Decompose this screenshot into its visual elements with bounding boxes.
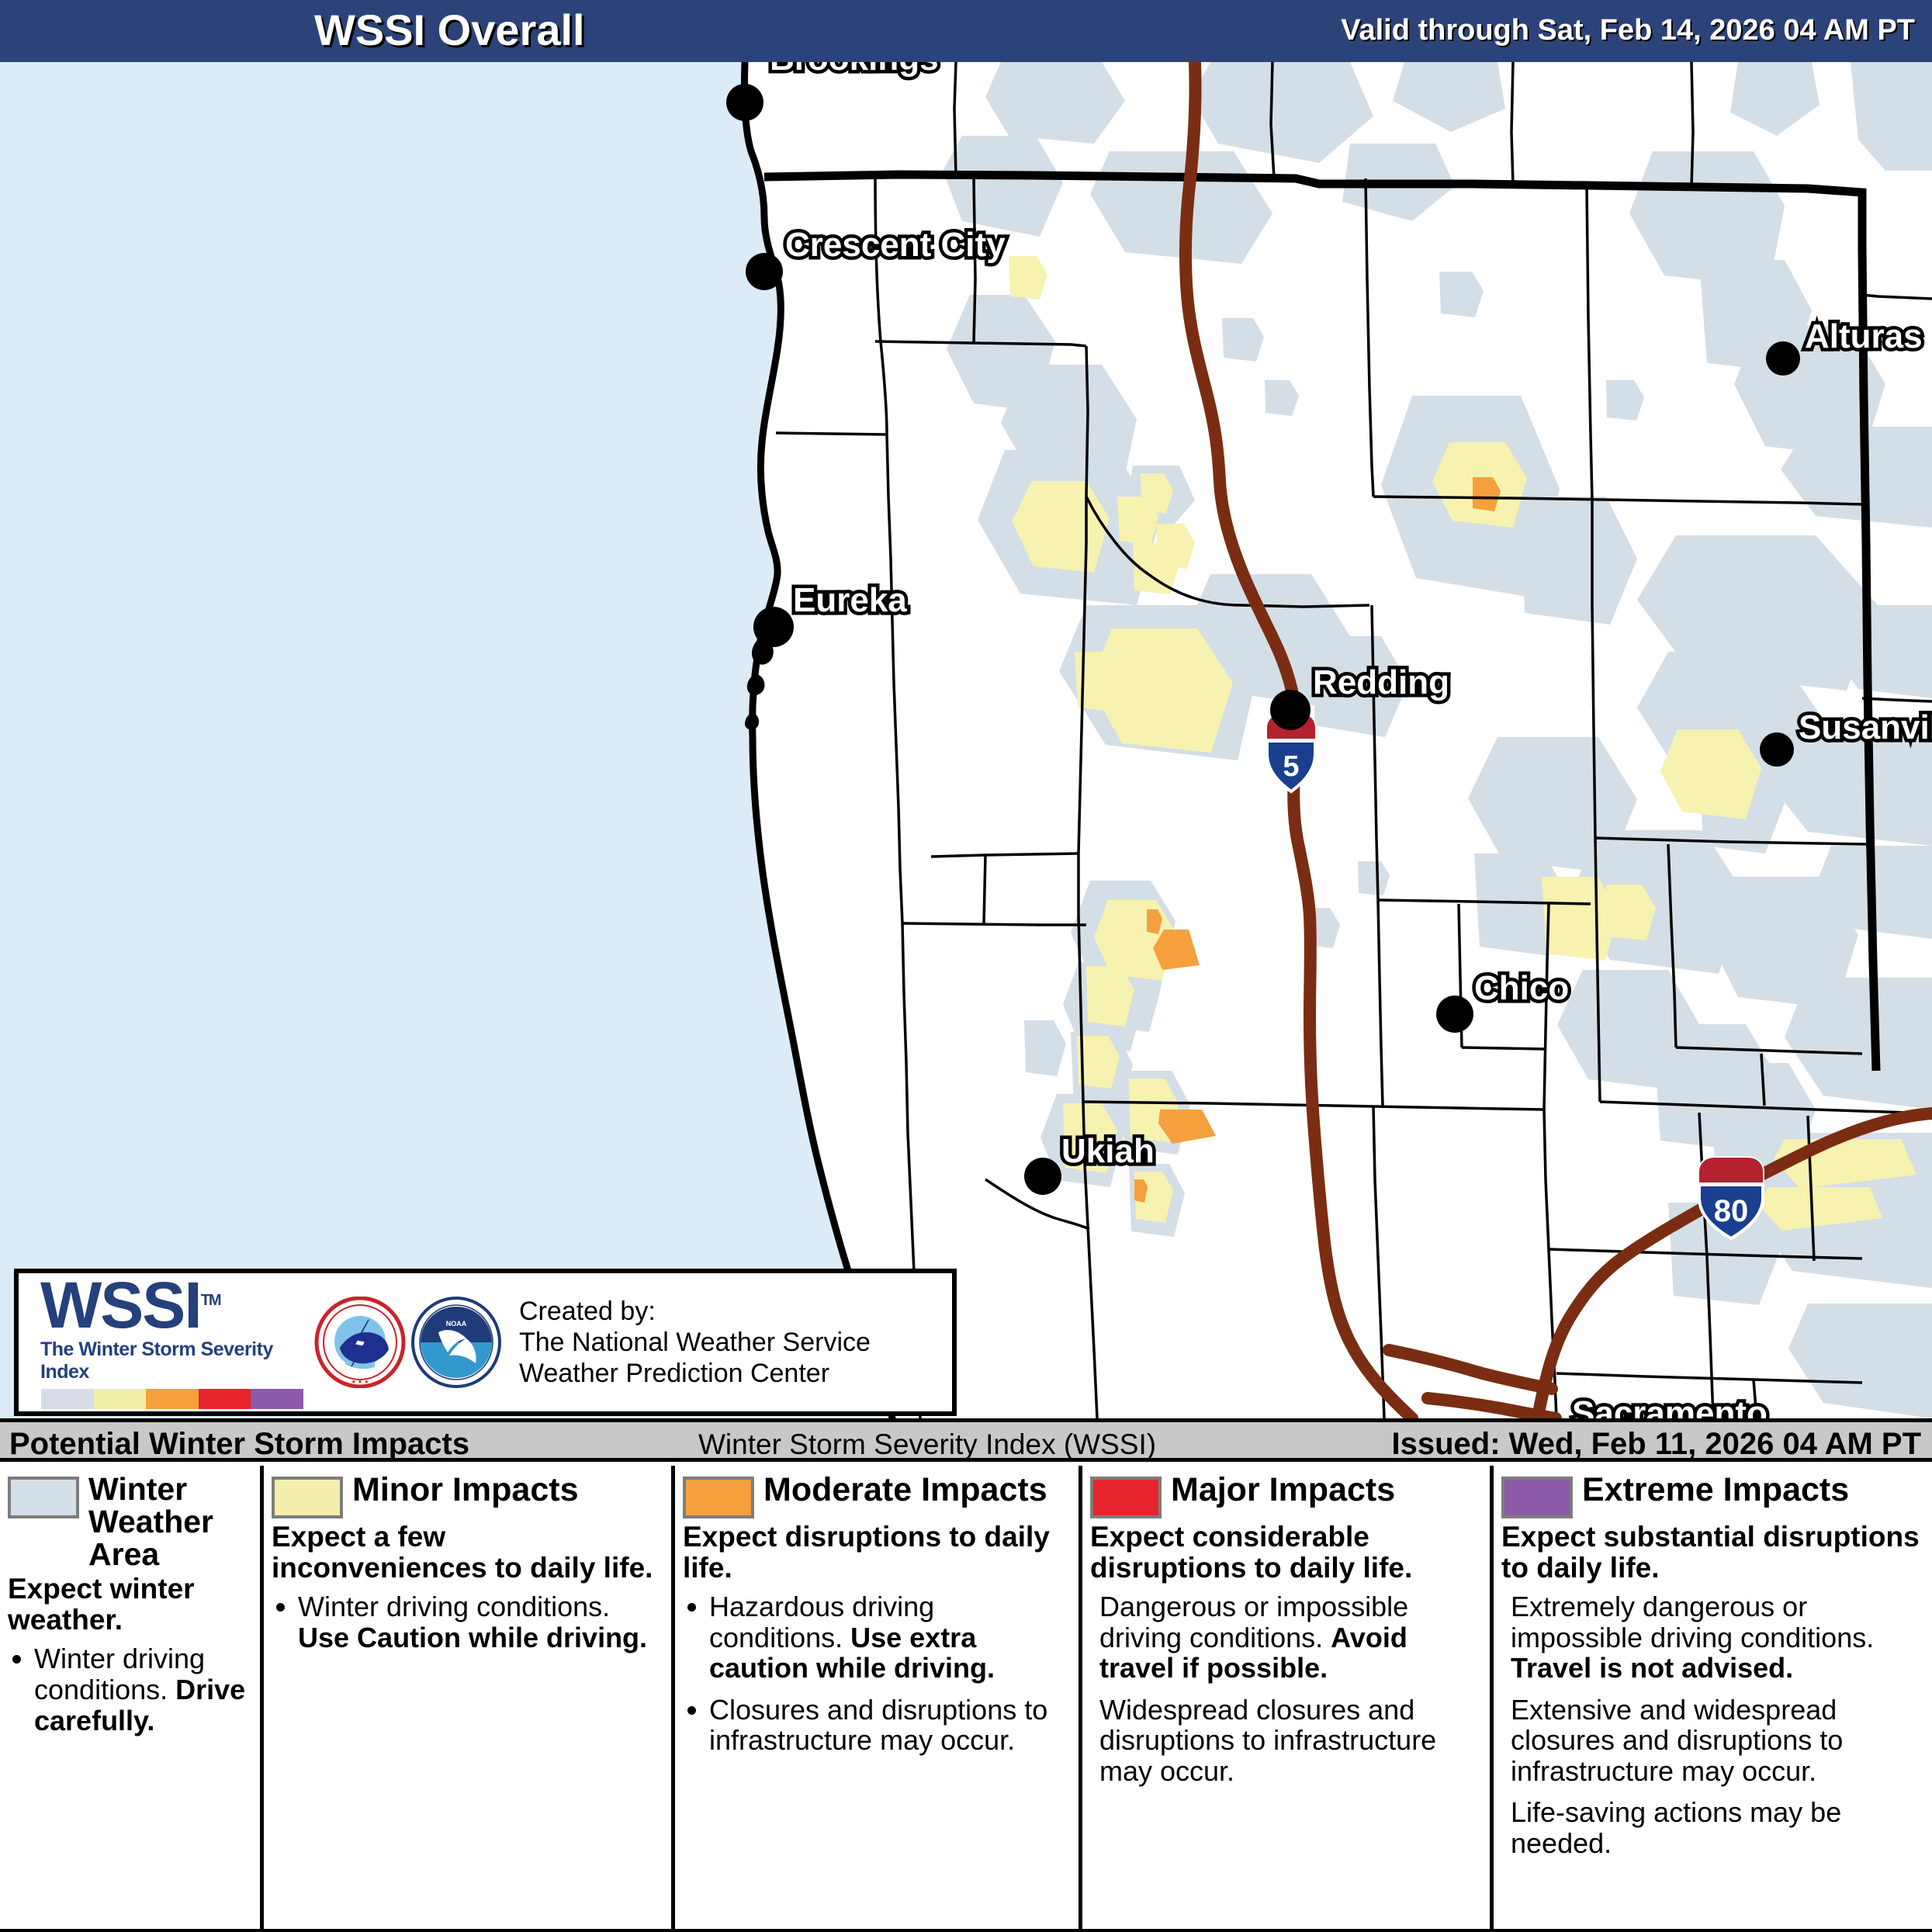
page-title: WSSI Overall [314, 5, 585, 55]
legend-bullets: Extremely dangerous or impossible drivin… [1501, 1591, 1924, 1859]
legend-bullet: Hazardous driving conditions. Use extra … [683, 1591, 1071, 1684]
legend-bullet: Extensive and widespread closures and di… [1501, 1695, 1924, 1787]
subtitle-bar: Potential Winter Storm Impacts Winter St… [0, 1418, 1932, 1462]
legend-text: Widespread closures and disruptions to i… [1099, 1694, 1436, 1787]
created-by-org-line1: The National Weather Service [519, 1327, 871, 1358]
wssi-map-page: WSSI Overall Valid through Sat, Feb 14, … [0, 0, 1932, 1932]
wssi-color-scale [40, 1388, 304, 1410]
city-label-crescent-city: Crescent City [785, 226, 1006, 264]
created-by-org-line2: Weather Prediction Center [519, 1358, 871, 1389]
city-dot-brookings [726, 84, 763, 121]
city-dot-alturas [1766, 341, 1800, 376]
wssi-tagline: The Winter Storm Severity Index [40, 1338, 310, 1383]
legend-title: Winter Weather Area [88, 1473, 252, 1570]
legend-header: Major Impacts [1090, 1473, 1482, 1518]
legend-color-swatch [272, 1477, 343, 1518]
legend-bullet: Widespread closures and disruptions to i… [1090, 1695, 1482, 1787]
scale-swatch-winter-area [41, 1389, 94, 1409]
city-dot-eureka [753, 607, 794, 647]
city-label-eureka: Eureka [793, 581, 907, 619]
bullet-dot-icon [687, 1706, 696, 1715]
legend-header: Winter Weather Area [8, 1473, 252, 1570]
legend-text: Life-saving actions may be needed. [1511, 1796, 1841, 1859]
legend-title: Minor Impacts [352, 1473, 579, 1508]
valid-through-text: Valid through Sat, Feb 14, 2026 04 AM PT [1341, 14, 1915, 47]
subtitle-left: Potential Winter Storm Impacts [9, 1427, 469, 1462]
legend-text: Extensive and widespread closures and di… [1511, 1694, 1843, 1787]
page-header: WSSI Overall Valid through Sat, Feb 14, … [0, 0, 1932, 62]
svg-text:80: 80 [1714, 1194, 1749, 1228]
map-layers: 5 80 [0, 62, 1932, 1418]
legend-column-winter-weather-area: Winter Weather AreaExpect winter weather… [0, 1466, 264, 1929]
legend-bullet: Closures and disruptions to infrastructu… [683, 1695, 1071, 1756]
legend-bullets: Dangerous or impossible driving conditio… [1090, 1591, 1482, 1787]
city-dot-chico [1436, 995, 1473, 1033]
legend-bullet: Winter driving conditions. Drive careful… [8, 1643, 252, 1736]
legend-color-swatch [8, 1477, 79, 1518]
legend-title: Extreme Impacts [1582, 1473, 1849, 1508]
legend-intro: Expect a few inconveniences to daily lif… [272, 1522, 663, 1584]
subtitle-right: Issued: Wed, Feb 11, 2026 04 AM PT [1392, 1427, 1921, 1462]
legend-bullets: Winter driving conditions. Use Caution w… [272, 1591, 663, 1653]
legend-text: Extremely dangerous or impossible drivin… [1511, 1591, 1874, 1653]
created-by-block: Created by: The National Weather Service… [519, 1296, 871, 1389]
trademark-mark: TM [201, 1292, 220, 1309]
scale-swatch-major [199, 1389, 251, 1409]
subtitle-middle: Winter Storm Severity Index (WSSI) [698, 1428, 1156, 1461]
legend-emphasis: Use Caution while driving. [298, 1622, 647, 1653]
city-dot-crescent-city [746, 253, 783, 290]
legend-bullet: Dangerous or impossible driving conditio… [1090, 1591, 1482, 1684]
legend-text: Closures and disruptions to infrastructu… [709, 1694, 1047, 1757]
city-dot-susanville [1760, 732, 1794, 767]
impact-legend: Winter Weather AreaExpect winter weather… [0, 1466, 1932, 1932]
scale-swatch-minor [94, 1389, 147, 1409]
city-label-brookings: Brookings [770, 62, 939, 78]
legend-header: Extreme Impacts [1501, 1473, 1924, 1518]
bullet-dot-icon [12, 1655, 21, 1664]
city-label-susanville: Susanville [1799, 708, 1932, 746]
svg-text:NOAA: NOAA [446, 1320, 467, 1328]
legend-emphasis: Travel is not advised. [1511, 1652, 1793, 1684]
scale-swatch-extreme [251, 1389, 303, 1409]
legend-bullets: Winter driving conditions. Drive careful… [8, 1643, 252, 1736]
legend-bullets: Hazardous driving conditions. Use extra … [683, 1591, 1071, 1756]
legend-title: Moderate Impacts [763, 1473, 1047, 1508]
legend-intro: Expect considerable disruptions to daily… [1090, 1522, 1482, 1584]
legend-intro: Expect disruptions to daily life. [683, 1522, 1071, 1584]
legend-color-swatch [1501, 1477, 1573, 1518]
legend-header: Moderate Impacts [683, 1473, 1071, 1518]
city-dot-ukiah [1024, 1158, 1061, 1195]
legend-intro: Expect winter weather. [8, 1574, 252, 1636]
wssi-logo: WSSITM The Winter Storm Severity Index [19, 1275, 310, 1410]
national-weather-service-seal: ★ ★ ★ [314, 1297, 406, 1388]
legend-text: Winter driving conditions. [298, 1591, 610, 1622]
noaa-seal: NOAA [410, 1297, 502, 1388]
bullet-dot-icon [276, 1603, 285, 1612]
legend-column-minor-impacts: Minor ImpactsExpect a few inconveniences… [264, 1466, 675, 1929]
svg-text:5: 5 [1283, 750, 1299, 783]
wssi-credit-box: WSSITM The Winter Storm Severity Index ★… [14, 1269, 957, 1416]
city-label-chico: Chico [1474, 969, 1569, 1007]
legend-column-major-impacts: Major ImpactsExpect considerable disrupt… [1082, 1466, 1494, 1929]
scale-swatch-moderate [146, 1389, 199, 1409]
city-label-sacramento: Sacramento [1572, 1394, 1768, 1418]
legend-color-swatch [1090, 1477, 1162, 1518]
city-dot-redding [1270, 690, 1311, 730]
legend-title: Major Impacts [1171, 1473, 1395, 1508]
legend-bullet: Extremely dangerous or impossible drivin… [1501, 1591, 1924, 1684]
legend-column-moderate-impacts: Moderate ImpactsExpect disruptions to da… [675, 1466, 1082, 1929]
legend-color-swatch [683, 1477, 754, 1518]
wssi-wordmark: WSSITM [40, 1275, 310, 1337]
city-label-redding: Redding [1313, 663, 1449, 701]
legend-header: Minor Impacts [272, 1473, 663, 1518]
bullet-dot-icon [687, 1603, 696, 1612]
legend-intro: Expect substantial disruptions to daily … [1501, 1522, 1924, 1584]
legend-bullet: Life-saving actions may be needed. [1501, 1797, 1924, 1858]
city-label-ukiah: Ukiah [1061, 1132, 1155, 1170]
svg-text:★ ★ ★: ★ ★ ★ [351, 1379, 369, 1385]
legend-bullet: Winter driving conditions. Use Caution w… [272, 1591, 663, 1653]
city-label-alturas: Alturas [1805, 317, 1923, 355]
legend-column-extreme-impacts: Extreme ImpactsExpect substantial disrup… [1494, 1466, 1932, 1929]
created-by-label: Created by: [519, 1296, 871, 1327]
map-canvas[interactable]: 5 80 [0, 62, 1932, 1418]
